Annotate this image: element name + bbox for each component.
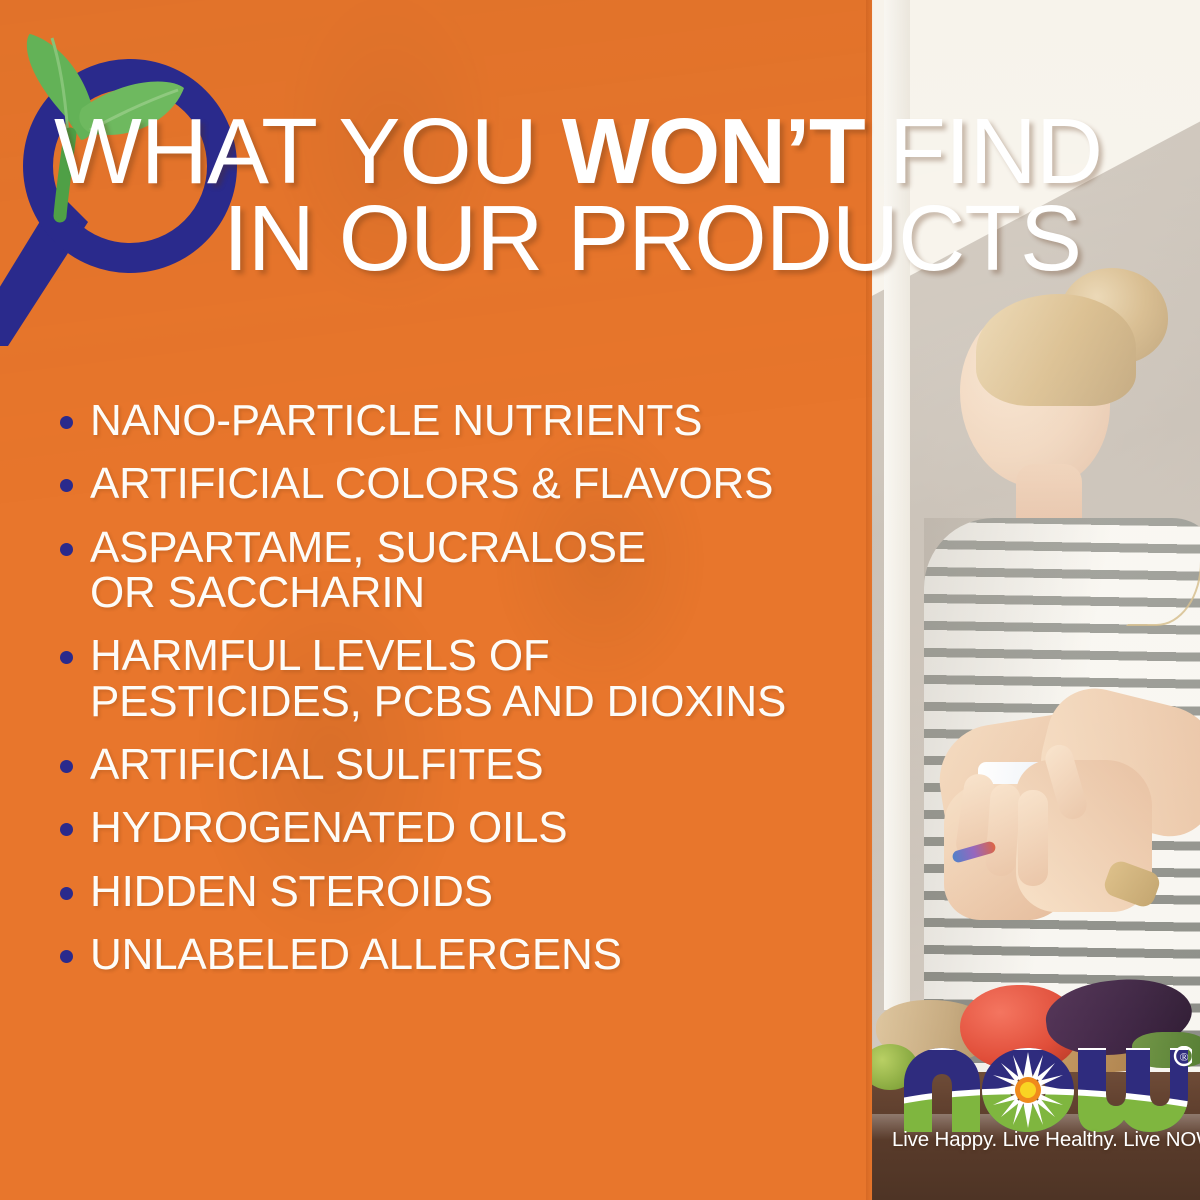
list-item-label: ARTIFICIAL SULFITES <box>90 742 543 787</box>
brand-tagline: Live Happy. Live Healthy. Live NOW. <box>892 1128 1184 1152</box>
list-item-line: NANO-PARTICLE NUTRIENTS <box>90 398 702 443</box>
list-item-line: UNLABELED ALLERGENS <box>90 932 622 977</box>
list-item: ARTIFICIAL COLORS & FLAVORS <box>60 461 860 506</box>
list-item: HIDDEN STEROIDS <box>60 869 860 914</box>
headline-line-1: WHAT YOU WON’T FIND <box>54 108 1174 195</box>
now-brand-logo: ® Live Happy. Live Healthy. Live NOW. <box>892 1046 1192 1162</box>
list-item-label: HYDROGENATED OILS <box>90 805 567 850</box>
list-item-label: NANO-PARTICLE NUTRIENTS <box>90 398 702 443</box>
list-item-label: ARTIFICIAL COLORS & FLAVORS <box>90 461 773 506</box>
page-title: WHAT YOU WON’T FIND IN OUR PRODUCTS <box>54 108 1174 283</box>
list-item-line: ARTIFICIAL SULFITES <box>90 742 543 787</box>
list-item-label: ASPARTAME, SUCRALOSEOR SACCHARIN <box>90 525 646 616</box>
svg-text:®: ® <box>1179 1050 1188 1064</box>
list-item-line: PESTICIDES, PCBS AND DIOXINS <box>90 679 786 724</box>
list-item-label: HIDDEN STEROIDS <box>90 869 493 914</box>
list-item-line: HARMFUL LEVELS OF <box>90 633 786 678</box>
list-item: HARMFUL LEVELS OFPESTICIDES, PCBS AND DI… <box>60 633 860 724</box>
list-item: UNLABELED ALLERGENS <box>60 932 860 977</box>
list-item-label: UNLABELED ALLERGENS <box>90 932 622 977</box>
list-item: ASPARTAME, SUCRALOSEOR SACCHARIN <box>60 525 860 616</box>
headline-line-2: IN OUR PRODUCTS <box>54 195 1174 282</box>
bullet-dot-icon <box>60 416 73 429</box>
bullet-dot-icon <box>60 823 73 836</box>
now-wordmark: ® <box>892 1046 1192 1138</box>
list-item-label: HARMFUL LEVELS OFPESTICIDES, PCBS AND DI… <box>90 633 786 724</box>
exclusion-list: NANO-PARTICLE NUTRIENTSARTIFICIAL COLORS… <box>60 398 860 995</box>
bullet-dot-icon <box>60 479 73 492</box>
poster-canvas: WHAT YOU WON’T FIND IN OUR PRODUCTS NANO… <box>0 0 1200 1200</box>
bullet-dot-icon <box>60 760 73 773</box>
bullet-dot-icon <box>60 950 73 963</box>
list-item-line: ARTIFICIAL COLORS & FLAVORS <box>90 461 773 506</box>
list-item: NANO-PARTICLE NUTRIENTS <box>60 398 860 443</box>
list-item-line: ASPARTAME, SUCRALOSE <box>90 525 646 570</box>
list-item-line: HYDROGENATED OILS <box>90 805 567 850</box>
list-item-line: OR SACCHARIN <box>90 570 646 615</box>
list-item-line: HIDDEN STEROIDS <box>90 869 493 914</box>
bullet-dot-icon <box>60 651 73 664</box>
list-item: ARTIFICIAL SULFITES <box>60 742 860 787</box>
bullet-dot-icon <box>60 543 73 556</box>
list-item: HYDROGENATED OILS <box>60 805 860 850</box>
bullet-dot-icon <box>60 887 73 900</box>
sunburst-icon <box>990 1052 1066 1128</box>
